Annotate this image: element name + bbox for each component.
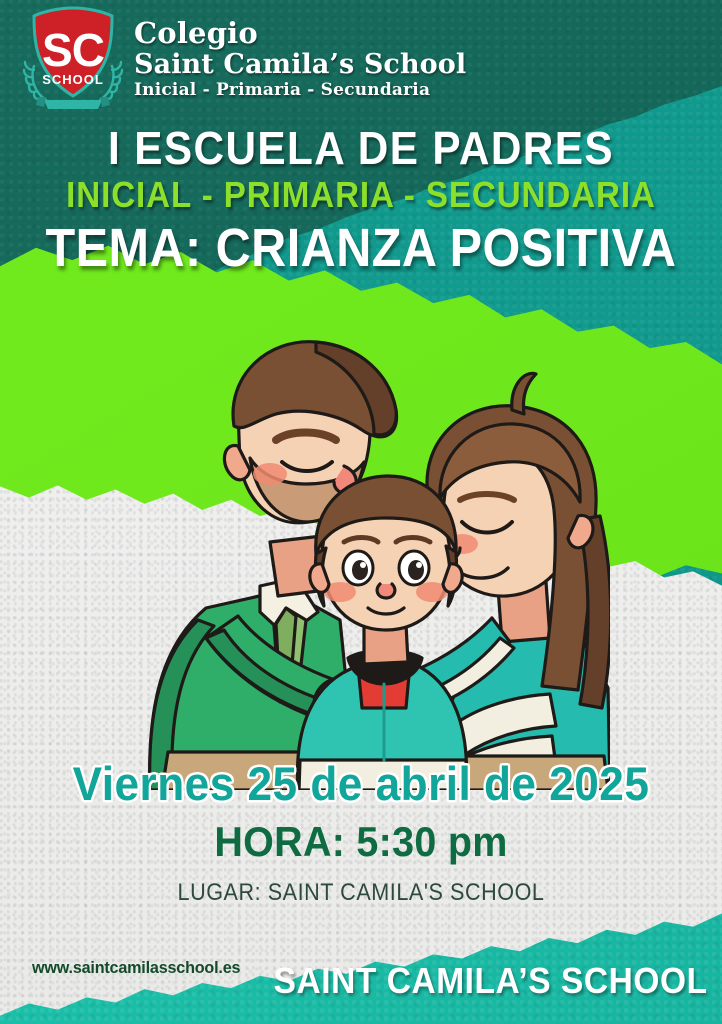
event-levels: INICIAL - PRIMARIA - SECUNDARIA <box>29 177 693 213</box>
event-title: I ESCUELA DE PADRES <box>29 125 693 171</box>
event-topic: TEMA: CRIANZA POSITIVA <box>36 221 686 276</box>
footer-website[interactable]: www.saintcamilasschool.es <box>32 958 240 978</box>
poster-root: SC SCHOOL Colegio Saint Camila’s School … <box>0 0 722 1024</box>
family-embrace-illustration <box>110 290 610 790</box>
headline-block: I ESCUELA DE PADRES INICIAL - PRIMARIA -… <box>0 125 722 276</box>
school-shield-logo: SC SCHOOL <box>18 4 128 114</box>
school-line-name: Saint Camila’s School <box>134 51 466 78</box>
svg-text:SC: SC <box>42 24 104 76</box>
footer-school-name: SAINT CAMILA’S SCHOOL <box>274 960 708 1002</box>
poster-header: SC SCHOOL Colegio Saint Camila’s School … <box>0 0 722 118</box>
event-date: Viernes 25 de abril de 2025 <box>22 760 701 807</box>
event-info-block: Viernes 25 de abril de 2025 HORA: 5:30 p… <box>0 760 722 905</box>
school-line-levels: Inicial - Primaria - Secundaria <box>134 82 466 99</box>
event-hour: HORA: 5:30 pm <box>22 821 701 863</box>
school-name-block: Colegio Saint Camila’s School Inicial - … <box>134 19 466 99</box>
school-line-colegio: Colegio <box>134 19 466 48</box>
event-place: LUGAR: SAINT CAMILA'S SCHOOL <box>36 881 686 905</box>
svg-text:SCHOOL: SCHOOL <box>42 72 104 87</box>
